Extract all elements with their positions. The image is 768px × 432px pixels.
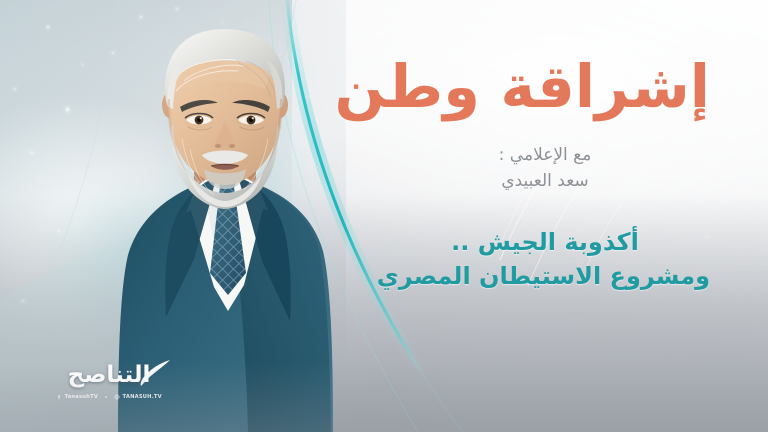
presenter-label: مع الإعلامي : [380,143,710,169]
website-handle: TANASUH.TV [114,394,162,400]
facebook-handle: TanasuhTV [56,394,98,400]
episode-headline-line-1: أكذوبة الجيش .. [380,225,710,259]
presenter-block: مع الإعلامي : سعد العبيدي [380,143,710,195]
channel-handles: TanasuhTV TANASUH.TV [48,394,170,400]
program-title: إشراقة وطن [380,56,710,117]
broadcast-graphic: إشراقة وطن مع الإعلامي : سعد العبيدي أكذ… [0,0,768,432]
handle-separator-dot [105,396,107,398]
globe-icon [114,394,120,400]
channel-logo: التناصح TanasuhTV TANASUH.TV [48,360,170,408]
episode-headline-line-2: ومشروع الاستيطان المصري [380,259,710,293]
channel-logo-word: التناصح [68,364,151,387]
website-handle-text: TANASUH.TV [123,394,162,400]
episode-headline: أكذوبة الجيش .. ومشروع الاستيطان المصري [380,225,710,293]
facebook-icon [56,394,62,400]
channel-logo-mark: التناصح [48,360,170,390]
presenter-name: سعد العبيدي [380,169,710,195]
program-text-block: إشراقة وطن مع الإعلامي : سعد العبيدي أكذ… [380,56,710,293]
facebook-handle-text: TanasuhTV [65,394,98,400]
